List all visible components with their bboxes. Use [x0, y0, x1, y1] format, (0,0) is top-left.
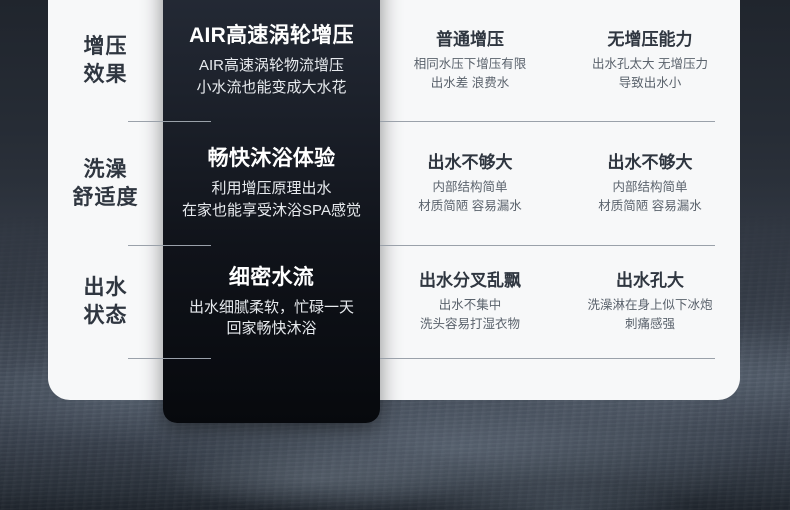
row-label-cell: 出水 状态 — [48, 246, 163, 358]
competitor-b-title: 无增压能力 — [608, 29, 693, 50]
hero-cell-sub-1: 出水细腻柔软，忙碌一天 — [189, 297, 354, 318]
hero-cell: 畅快沐浴体验 利用增压原理出水 在家也能享受沐浴SPA感觉 — [163, 122, 380, 245]
row-label-line-2: 舒适度 — [73, 184, 139, 212]
competitor-b-sub-2: 导致出水小 — [619, 74, 682, 93]
hero-cell-sub-1: AIR高速涡轮物流增压 — [199, 55, 344, 76]
row-label-line-1: 出水 — [84, 274, 128, 302]
competitor-b-sub-2: 刺痛感强 — [625, 315, 675, 334]
row-label-line-1: 增压 — [84, 33, 128, 61]
competitor-a-sub-1: 相同水压下增压有限 — [414, 55, 527, 74]
hero-cell-title: 细密水流 — [229, 265, 314, 291]
competitor-a-sub-1: 内部结构简单 — [432, 178, 507, 197]
competitor-a-sub-2: 洗头容易打湿衣物 — [420, 315, 520, 334]
competitor-b-cell: 出水孔大 洗澡淋在身上似下冰炮 刺痛感强 — [560, 246, 740, 358]
competitor-a-title: 出水分叉乱飘 — [419, 270, 521, 291]
competitor-a-sub-2: 材质简陋 容易漏水 — [418, 197, 521, 216]
table-row: 洗澡 舒适度 畅快沐浴体验 利用增压原理出水 在家也能享受沐浴SPA感觉 出水不… — [48, 122, 740, 245]
row-label-line-1: 洗澡 — [84, 156, 128, 184]
competitor-a-title: 出水不够大 — [428, 152, 513, 173]
hero-cell: 细密水流 出水细腻柔软，忙碌一天 回家畅快沐浴 — [163, 246, 380, 358]
competitor-b-title: 出水孔大 — [616, 270, 684, 291]
competitor-a-cell: 出水分叉乱飘 出水不集中 洗头容易打湿衣物 — [380, 246, 560, 358]
hero-cell-sub-2: 小水流也能变成大水花 — [196, 77, 346, 98]
row-label-line-2: 状态 — [84, 302, 128, 330]
competitor-a-title: 普通增压 — [436, 29, 504, 50]
competitor-b-title: 出水不够大 — [608, 152, 693, 173]
comparison-table: 增压 效果 AIR高速涡轮增压 AIR高速涡轮物流增压 小水流也能变成大水花 普… — [48, 0, 740, 400]
row-label-line-2: 效果 — [84, 61, 128, 89]
competitor-a-sub-2: 出水差 浪费水 — [431, 74, 509, 93]
competitor-a-sub-1: 出水不集中 — [439, 296, 502, 315]
table-row: 出水 状态 细密水流 出水细腻柔软，忙碌一天 回家畅快沐浴 出水分叉乱飘 出水不… — [48, 246, 740, 358]
hero-cell-sub-2: 回家畅快沐浴 — [226, 318, 316, 339]
row-label-cell: 增压 效果 — [48, 0, 163, 121]
hero-cell-sub-1: 利用增压原理出水 — [211, 178, 331, 199]
competitor-b-sub-1: 出水孔太大 无增压力 — [592, 55, 708, 74]
competitor-b-sub-1: 内部结构简单 — [612, 178, 687, 197]
hero-cell-title: 畅快沐浴体验 — [208, 146, 336, 172]
table-row: 增压 效果 AIR高速涡轮增压 AIR高速涡轮物流增压 小水流也能变成大水花 普… — [48, 0, 740, 121]
hero-cell: AIR高速涡轮增压 AIR高速涡轮物流增压 小水流也能变成大水花 — [163, 0, 380, 121]
competitor-b-sub-1: 洗澡淋在身上似下冰炮 — [587, 296, 712, 315]
hero-cell-sub-2: 在家也能享受沐浴SPA感觉 — [182, 200, 361, 221]
hero-cell-title: AIR高速涡轮增压 — [189, 23, 354, 49]
competitor-a-cell: 普通增压 相同水压下增压有限 出水差 浪费水 — [380, 0, 560, 121]
row-divider-left-3 — [128, 358, 211, 359]
competitor-b-cell: 出水不够大 内部结构简单 材质简陋 容易漏水 — [560, 122, 740, 245]
competitor-b-sub-2: 材质简陋 容易漏水 — [598, 197, 701, 216]
row-label-cell: 洗澡 舒适度 — [48, 122, 163, 245]
row-divider-right-3 — [380, 358, 715, 359]
competitor-a-cell: 出水不够大 内部结构简单 材质简陋 容易漏水 — [380, 122, 560, 245]
competitor-b-cell: 无增压能力 出水孔太大 无增压力 导致出水小 — [560, 0, 740, 121]
